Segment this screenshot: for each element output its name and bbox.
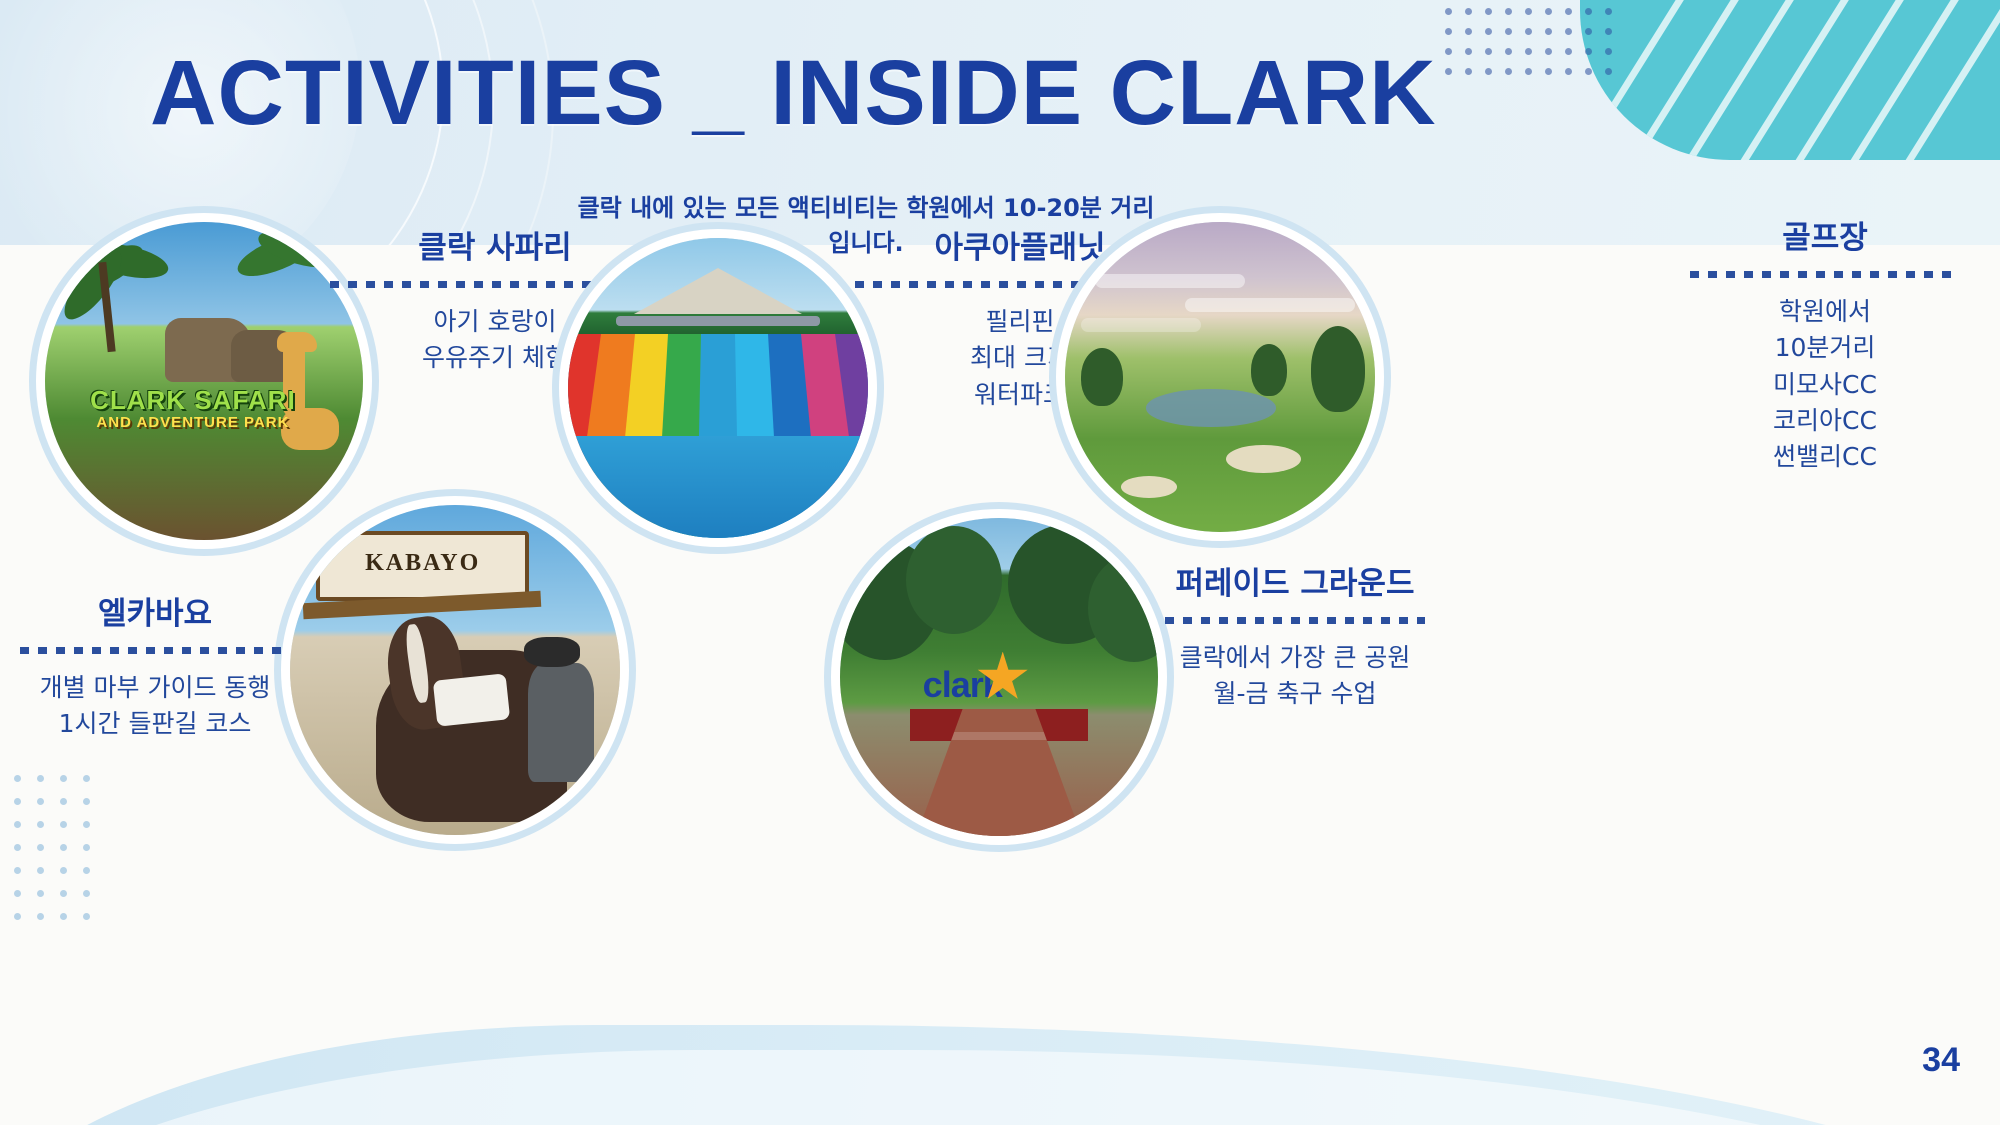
slide-root: ACTIVITIES _ INSIDE CLARK 클락 내에 있는 모든 액티… <box>0 0 2000 1125</box>
text-golf-course: 골프장 학원에서 10분거리 미모사CC 코리아CC 썬밸리CC <box>1690 212 1960 475</box>
card-line: 학원에서 <box>1690 294 1960 330</box>
header-teal-shape <box>1580 0 2000 160</box>
card-line: 코리아CC <box>1690 403 1960 439</box>
divider-dotted-parade-ground <box>1165 617 1425 624</box>
diagonal-stripes-decor <box>1580 0 2000 160</box>
card-body-el-kabayo: 개별 마부 가이드 동행 1시간 들판길 코스 <box>20 670 290 743</box>
dot-grid-decor-bottom <box>14 775 90 920</box>
divider-dotted-golf-course <box>1690 271 1960 278</box>
card-title-golf-course: 골프장 <box>1690 212 1960 257</box>
text-el-kabayo: 엘카바요 개별 마부 가이드 동행 1시간 들판길 코스 <box>20 588 290 743</box>
photo-golf-course <box>1065 222 1375 532</box>
photo-parade-ground: clark <box>840 518 1158 836</box>
parade-ground-image: clark <box>840 518 1158 836</box>
card-line: 클락에서 가장 큰 공원 <box>1165 640 1425 676</box>
clark-safari-image: CLARK SAFARI AND ADVENTURE PARK <box>45 222 363 540</box>
card-line: 10분거리 <box>1690 330 1960 366</box>
card-title-parade-ground: 퍼레이드 그라운드 <box>1165 558 1425 603</box>
golf-course-image <box>1065 222 1375 532</box>
divider-dotted-el-kabayo <box>20 647 290 654</box>
kabayo-sign: KABAYO <box>316 531 529 601</box>
el-kabayo-image: KABAYO <box>290 505 620 835</box>
page-number: 34 <box>1922 1041 1960 1080</box>
card-body-golf-course: 학원에서 10분거리 미모사CC 코리아CC 썬밸리CC <box>1690 294 1960 475</box>
card-line: 썬밸리CC <box>1690 439 1960 475</box>
dot-grid-decor-top <box>1445 8 1612 75</box>
card-title-el-kabayo: 엘카바요 <box>20 588 290 633</box>
aqua-planet-image <box>568 238 868 538</box>
safari-photo-caption: CLARK SAFARI AND ADVENTURE PARK <box>53 387 333 430</box>
card-line: 미모사CC <box>1690 367 1960 403</box>
photo-aqua-planet <box>568 238 868 538</box>
page-title-part2: INSIDE CLARK <box>770 42 1436 144</box>
photo-el-kabayo: KABAYO <box>290 505 620 835</box>
text-parade-ground: 퍼레이드 그라운드 클락에서 가장 큰 공원 월-금 축구 수업 <box>1165 558 1425 713</box>
page-title-part1: ACTIVITIES <box>150 42 666 144</box>
page-title-separator: _ <box>693 42 744 144</box>
card-body-parade-ground: 클락에서 가장 큰 공원 월-금 축구 수업 <box>1165 640 1425 713</box>
photo-clark-safari: CLARK SAFARI AND ADVENTURE PARK <box>45 222 363 540</box>
card-line: 월-금 축구 수업 <box>1165 676 1425 712</box>
card-line: 1시간 들판길 코스 <box>20 706 290 742</box>
page-title: ACTIVITIES _ INSIDE CLARK <box>150 45 1437 142</box>
card-line: 개별 마부 가이드 동행 <box>20 670 290 706</box>
